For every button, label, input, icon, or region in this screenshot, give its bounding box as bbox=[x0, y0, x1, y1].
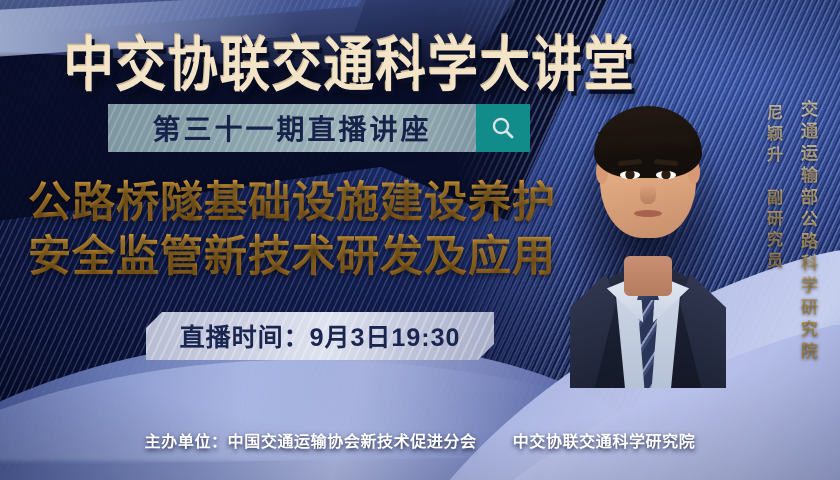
livestream-poster: 中交协联交通科学大讲堂 第三十一期直播讲座 公路桥隧基础设施建设养护 安全监管新… bbox=[0, 0, 840, 480]
episode-label-bar: 第三十一期直播讲座 bbox=[108, 104, 476, 152]
lecture-title-line1: 公路桥隧基础设施建设养护 bbox=[28, 176, 580, 230]
footer-organizer: 主办单位：中国交通运输协会新技术促进分会 bbox=[145, 434, 477, 451]
search-icon bbox=[490, 115, 516, 141]
broadcast-time-label: 直播时间：9月3日19:30 bbox=[180, 318, 461, 354]
episode-banner: 第三十一期直播讲座 bbox=[108, 104, 530, 152]
page-title: 中交协联交通科学大讲堂 bbox=[0, 18, 700, 103]
footer-institute: 中交协联交通科学研究院 bbox=[513, 434, 696, 451]
lecture-title: 公路桥隧基础设施建设养护 安全监管新技术研发及应用 bbox=[28, 176, 580, 284]
lecture-title-line2: 安全监管新技术研发及应用 bbox=[28, 230, 580, 284]
broadcast-time-chip: 直播时间：9月3日19:30 bbox=[146, 312, 494, 360]
episode-label: 第三十一期直播讲座 bbox=[152, 108, 431, 148]
search-button[interactable] bbox=[476, 104, 530, 152]
footer-credits: 主办单位：中国交通运输协会新技术促进分会 中交协联交通科学研究院 bbox=[0, 428, 840, 452]
speaker-organization: 交通运输部公路科学研究院 bbox=[795, 100, 820, 364]
speaker-name-title: 尼颖升 副研究员 bbox=[760, 104, 784, 273]
